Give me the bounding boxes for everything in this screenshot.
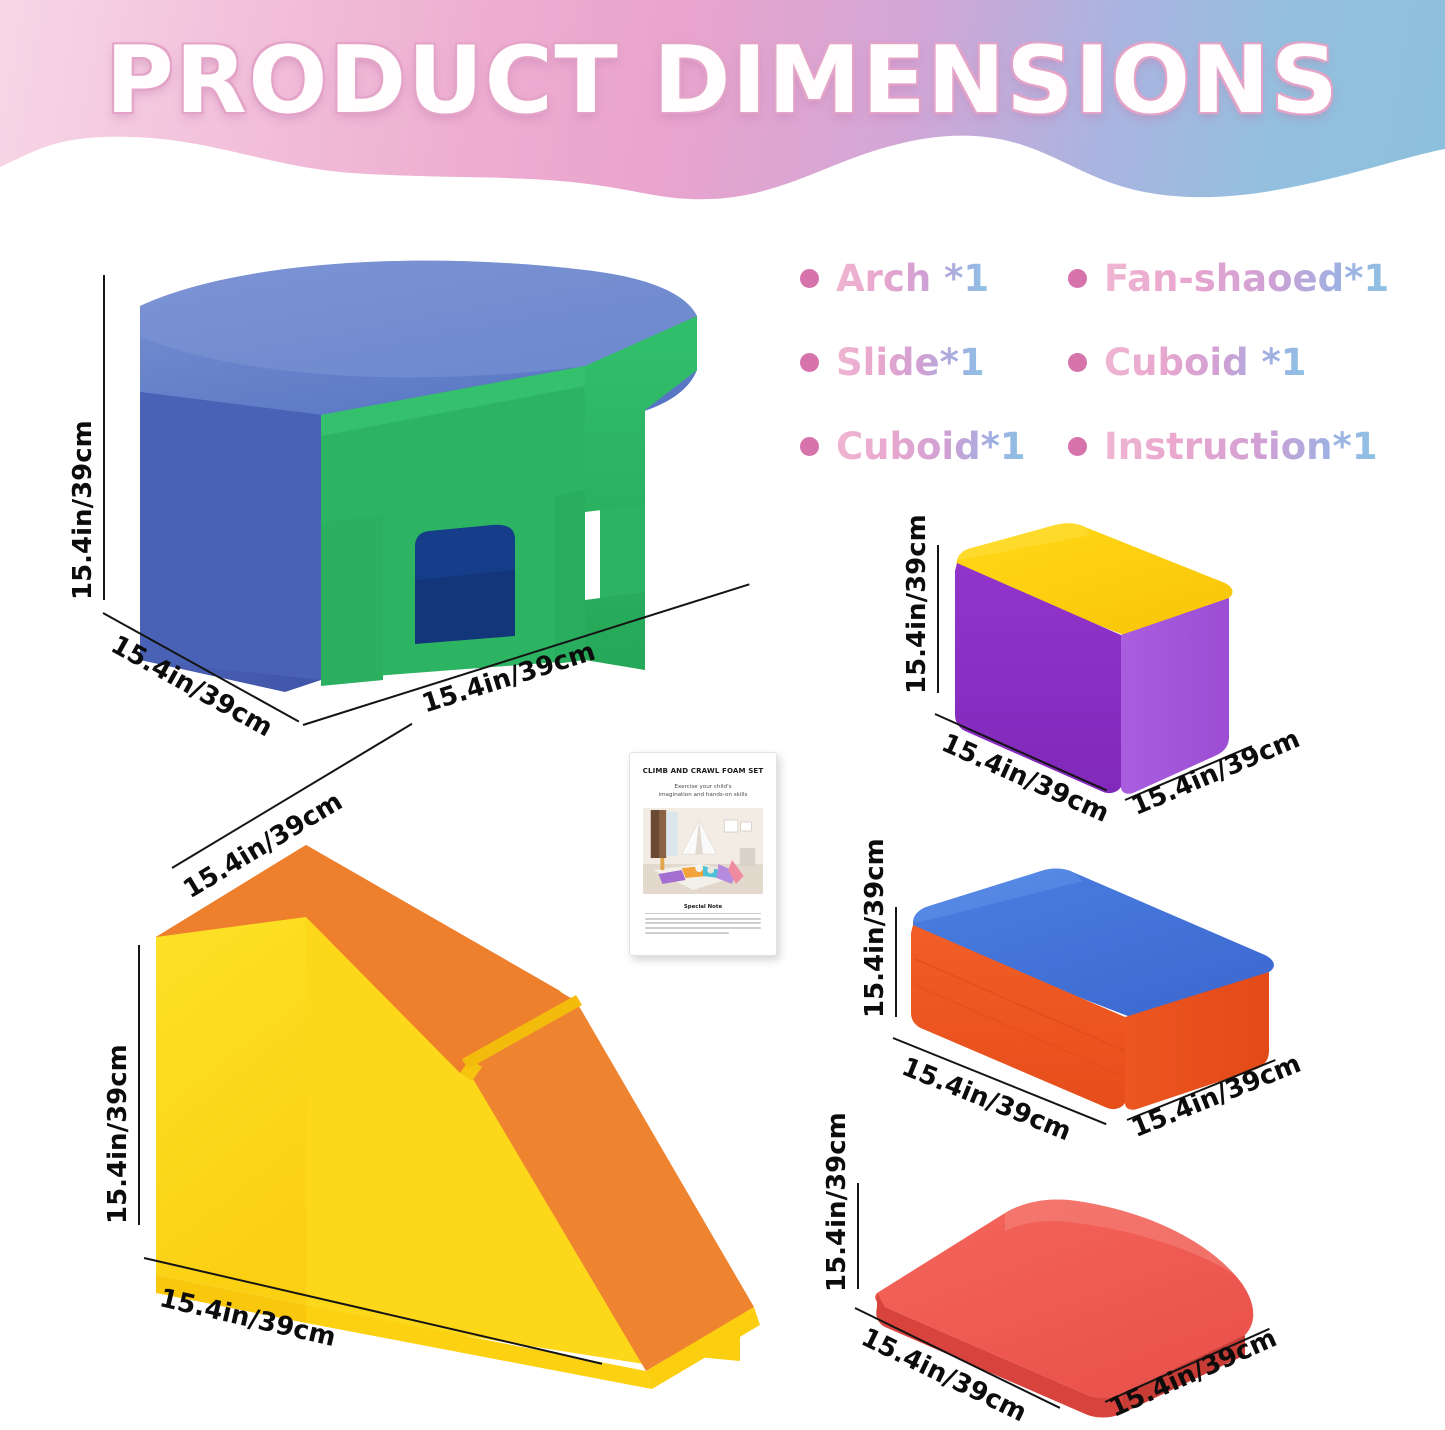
bullet-dot-icon (800, 269, 819, 288)
page-header: PRODUCT DIMENSIONS (0, 0, 1445, 215)
orange-cuboid-height-measure-line (895, 907, 897, 1017)
bullet-dot-icon (800, 353, 819, 372)
parts-list-row: Arch *1 Fan-shaoed*1 (800, 236, 1410, 320)
parts-list-item-cuboid-1: Cuboid *1 (1068, 341, 1410, 384)
arch-height-measure-line (103, 275, 105, 600)
arch-front-panel (140, 392, 321, 680)
booklet-text-line (645, 918, 761, 920)
booklet-photo (643, 808, 763, 894)
purple-cuboid-height-label: 15.4in/39cm (902, 514, 932, 694)
parts-list-item-instruction: Instruction*1 (1068, 425, 1410, 468)
booklet-body-text (645, 918, 761, 934)
product-arch-piece: 15.4in/39cm 15.4in/39cm 15.4in/39cm (85, 240, 775, 760)
purple-cuboid-height-measure-line (937, 545, 939, 693)
product-fan-shaped-piece: 15.4in/39cm 15.4in/39cm 15.4in/39cm (815, 1175, 1350, 1425)
parts-list-item-arch: Arch *1 (800, 257, 1068, 300)
parts-list-row: Slide*1 Cuboid *1 (800, 320, 1410, 404)
product-cuboid-orange: 15.4in/39cm 15.4in/39cm 15.4in/39cm (845, 855, 1345, 1175)
booklet-note-heading: Special Note (641, 904, 765, 910)
booklet-text-line (645, 927, 761, 929)
slide-height-measure-line (138, 945, 140, 1225)
booklet-subtitle-line-1: Exercise your child's (674, 784, 731, 790)
fan-height-measure-line (857, 1183, 859, 1289)
parts-list-item-cuboid-2: Cuboid*1 (800, 425, 1068, 468)
arch-height-label: 15.4in/39cm (68, 420, 98, 600)
bullet-dot-icon (1068, 269, 1087, 288)
arch-green-left-leg (321, 516, 383, 686)
fan-height-label: 15.4in/39cm (822, 1112, 852, 1292)
parts-list-row: Cuboid*1 Instruction*1 (800, 404, 1410, 488)
parts-list-label: Cuboid*1 (836, 425, 1026, 468)
booklet-playroom-photo (643, 808, 763, 894)
bullet-dot-icon (1068, 353, 1087, 372)
booklet-divider (645, 913, 761, 914)
parts-list-label: Fan-shaoed*1 (1104, 257, 1389, 300)
purple-cuboid-illustration (885, 505, 1345, 835)
fan-shaped-illustration (815, 1175, 1350, 1425)
product-cuboid-purple: 15.4in/39cm 15.4in/39cm 15.4in/39cm (885, 505, 1345, 835)
booklet-title: CLIMB AND CRAWL FOAM SET (641, 767, 765, 776)
parts-list-label: Arch *1 (836, 257, 989, 300)
booklet-subtitle: Exercise your child's imagination and ha… (641, 783, 765, 799)
header-wave-divider (0, 105, 1445, 215)
bullet-dot-icon (1068, 437, 1087, 456)
booklet-text-line (645, 922, 761, 924)
orange-cuboid-height-label: 15.4in/39cm (860, 838, 890, 1018)
instruction-booklet: CLIMB AND CRAWL FOAM SET Exercise your c… (629, 752, 777, 956)
slide-yellow-left-face (156, 913, 306, 1305)
booklet-text-line (645, 932, 729, 934)
parts-list-item-slide: Slide*1 (800, 341, 1068, 384)
booklet-subtitle-line-2: imagination and hands-on skills (659, 792, 748, 798)
bullet-dot-icon (800, 437, 819, 456)
parts-list: Arch *1 Fan-shaoed*1 Slide*1 Cuboid *1 C… (800, 236, 1410, 488)
parts-list-label: Cuboid *1 (1104, 341, 1307, 384)
slide-height-label: 15.4in/39cm (103, 1044, 133, 1224)
orange-cuboid-illustration (845, 855, 1345, 1175)
parts-list-label: Slide*1 (836, 341, 985, 384)
parts-list-label: Instruction*1 (1104, 425, 1378, 468)
parts-list-item-fan-shaped: Fan-shaoed*1 (1068, 257, 1410, 300)
